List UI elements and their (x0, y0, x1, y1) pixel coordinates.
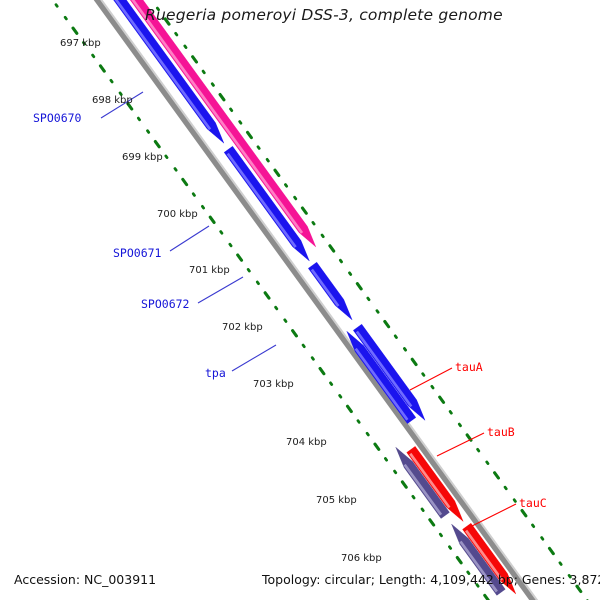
tick-dash-icon (293, 331, 297, 336)
tick-dot-icon (432, 386, 433, 388)
tick-dash-icon (220, 95, 224, 100)
tick-dash-icon (495, 473, 499, 478)
tick-dot-icon (422, 509, 423, 511)
gene-arrow (224, 146, 309, 261)
tick-dash-icon (440, 397, 444, 402)
tick-dot-icon (395, 336, 396, 338)
tick-dash-icon (320, 368, 324, 373)
tick-dot-icon (478, 449, 479, 451)
tick-dot-icon (358, 421, 359, 423)
tick-dot-icon (450, 412, 451, 414)
tick-dot-icon (176, 33, 177, 35)
tick-dash-icon (100, 66, 104, 71)
tick-dash-icon (457, 558, 461, 563)
tick-dot-icon (166, 156, 167, 158)
tick-dot-icon (322, 235, 323, 237)
genome-map-canvas[interactable]: Ruegeria pomeroyi DSS-3, complete genome… (0, 0, 600, 600)
gene-label-tpa[interactable]: tpa (205, 366, 226, 380)
genome-backbone-line (40, 0, 600, 600)
ruler-tick-label: 701 kbp (189, 265, 230, 276)
tick-dot-icon (331, 383, 332, 385)
gene-arrow (347, 331, 416, 423)
tick-dash-icon (412, 359, 416, 364)
tick-dash-icon (549, 548, 553, 553)
tick-dot-icon (276, 307, 277, 309)
leader-line (232, 345, 276, 371)
tick-dot-icon (533, 525, 534, 527)
tick-dot-icon (248, 269, 249, 271)
tick-dot-icon (487, 462, 488, 464)
gene-label-spo0671[interactable]: SPO0671 (113, 246, 161, 260)
tick-dot-icon (258, 147, 259, 149)
ruler-tick-label: 704 kbp (286, 437, 327, 448)
gene-label-spo0670[interactable]: SPO0670 (33, 111, 81, 125)
tick-dot-icon (295, 197, 296, 199)
tick-dot-icon (350, 273, 351, 275)
tick-dash-icon (347, 406, 351, 411)
tick-dot-icon (138, 118, 139, 120)
tick-dash-icon (385, 321, 389, 326)
tick-dot-icon (440, 534, 441, 536)
ruler-tick-label: 697 kbp (60, 38, 101, 49)
ruler-tick-label: 700 kbp (157, 209, 198, 220)
tick-dot-icon (413, 496, 414, 498)
tick-dot-icon (185, 46, 186, 48)
tick-dot-icon (285, 320, 286, 322)
tick-dot-icon (267, 159, 268, 161)
tick-dot-icon (221, 232, 222, 234)
tick-dash-icon (193, 57, 197, 62)
tick-dot-icon (505, 487, 506, 489)
tick-dot-icon (285, 185, 286, 187)
tick-dash-icon (402, 482, 406, 487)
tick-dot-icon (542, 538, 543, 540)
gene-track-blue-outer[interactable] (347, 331, 416, 423)
tick-dot-icon (340, 395, 341, 397)
tick-dash-icon (155, 142, 159, 147)
tick-dash-icon (210, 217, 214, 222)
leader-line (437, 433, 484, 456)
ruler-tick-label: 705 kbp (316, 495, 357, 506)
tick-dot-icon (449, 547, 450, 549)
tick-dot-icon (303, 345, 304, 347)
tick-dot-icon (193, 194, 194, 196)
tick-dot-icon (93, 55, 94, 57)
tick-dot-icon (312, 358, 313, 360)
gene-label-taua[interactable]: tauA (455, 360, 483, 374)
tick-dash-icon (248, 132, 252, 137)
tick-dot-icon (377, 311, 378, 313)
tick-dash-icon (330, 246, 334, 251)
tick-dot-icon (202, 206, 203, 208)
tick-dot-icon (231, 109, 232, 111)
genome-diagram-svg (0, 0, 600, 600)
tick-dash-icon (73, 28, 77, 33)
gene-label-tauc[interactable]: tauC (519, 496, 547, 510)
ruler-tick-label: 699 kbp (122, 152, 163, 163)
gene-arrow (308, 262, 352, 320)
tick-dot-icon (212, 84, 213, 86)
ruler-tick-label: 702 kbp (222, 322, 263, 333)
tick-dot-icon (313, 222, 314, 224)
genome-stats-text: Topology: circular; Length: 4,109,442 bp… (262, 572, 600, 587)
tick-dash-icon (485, 595, 489, 600)
tick-dash-icon (265, 293, 269, 298)
tick-dot-icon (560, 563, 561, 565)
tick-dash-icon (357, 284, 361, 289)
tick-dot-icon (203, 71, 204, 73)
ruler-tick-label: 703 kbp (253, 379, 294, 390)
tick-dot-icon (340, 260, 341, 262)
tick-dash-icon (275, 170, 279, 175)
page-title: Ruegeria pomeroyi DSS-3, complete genome (145, 6, 503, 24)
leader-line (470, 504, 516, 527)
tick-dot-icon (175, 169, 176, 171)
leader-line (170, 226, 209, 251)
tick-dot-icon (385, 459, 386, 461)
tick-dot-icon (404, 349, 405, 351)
tick-dot-icon (459, 424, 460, 426)
ruler-tick-label: 698 kbp (92, 95, 133, 106)
tick-dash-icon (430, 520, 434, 525)
tick-dot-icon (148, 131, 149, 133)
accession-text: Accession: NC_003911 (14, 572, 156, 587)
tick-dot-icon (423, 374, 424, 376)
ruler-ticks-right (18, 0, 571, 600)
tick-dot-icon (111, 80, 112, 82)
tick-dot-icon (367, 433, 368, 435)
gene-label-spo0672[interactable]: SPO0672 (141, 297, 189, 311)
tick-dash-icon (238, 255, 242, 260)
tick-dot-icon (230, 244, 231, 246)
ruler-tick-label: 706 kbp (341, 553, 382, 564)
tick-dash-icon (522, 511, 526, 516)
gene-label-taub[interactable]: tauB (487, 425, 515, 439)
tick-dash-icon (183, 179, 187, 184)
tick-dot-icon (56, 5, 57, 7)
tick-dot-icon (368, 298, 369, 300)
tick-dot-icon (65, 17, 66, 19)
tick-dot-icon (240, 122, 241, 124)
tick-dash-icon (302, 208, 306, 213)
tick-dot-icon (395, 471, 396, 473)
tick-dash-icon (375, 444, 379, 449)
tick-dot-icon (257, 282, 258, 284)
leader-line (198, 277, 243, 303)
tick-dot-icon (514, 500, 515, 502)
